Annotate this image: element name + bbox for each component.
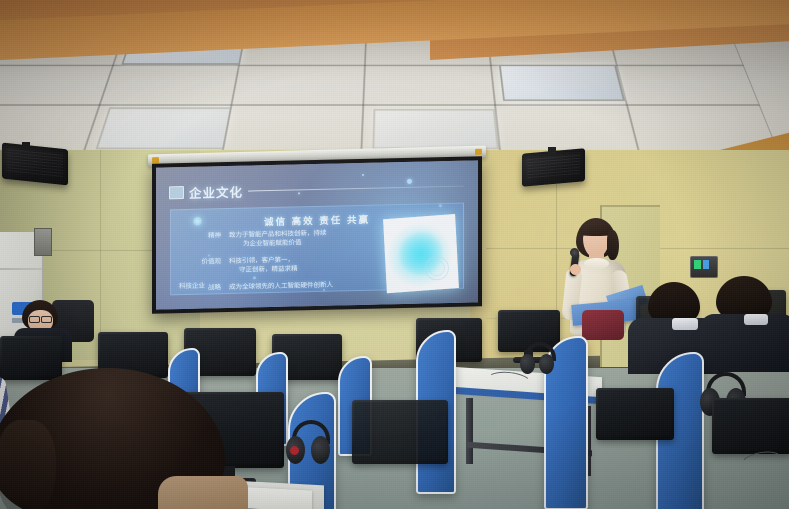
panel-led-green-icon	[694, 260, 701, 269]
wall-speaker-left	[2, 143, 68, 186]
speaker-bracket	[548, 147, 556, 154]
hair-strand	[0, 420, 56, 509]
person-shoulder	[158, 476, 248, 509]
wall-switch-box[interactable]	[34, 228, 52, 256]
foreground-person	[0, 368, 230, 509]
speaker-bracket	[22, 142, 30, 149]
red-bag	[582, 310, 624, 340]
projection-surface: 企业文化 诚信 高效 责任 共赢 精神 致力于智能产品和科技创新，持续 为企业智…	[156, 160, 478, 309]
projector-screen: 企业文化 诚信 高效 责任 共赢 精神 致力于智能产品和科技创新，持续 为企业智…	[152, 156, 482, 313]
student-collar	[672, 318, 698, 330]
panel-led-blue-icon	[703, 260, 709, 269]
wall-speaker-right	[522, 148, 585, 187]
presenter-hair-side	[607, 230, 619, 260]
microphone-head-icon	[570, 248, 579, 257]
classroom-photo: 企业文化 诚信 高效 责任 共赢 精神 致力于智能产品和科技创新，持续 为企业智…	[0, 0, 789, 509]
student-collar	[744, 314, 768, 325]
presenter-collar	[584, 258, 609, 269]
eyeglasses-icon	[29, 316, 40, 323]
cabinet-seam	[0, 268, 42, 270]
headset	[520, 342, 554, 378]
headset	[286, 420, 330, 472]
monitor	[596, 388, 674, 440]
screen-glare	[156, 160, 478, 309]
wall-seam	[100, 150, 101, 362]
monitor	[352, 400, 448, 464]
desk-leg	[466, 398, 473, 464]
eyeglasses-icon	[41, 316, 52, 323]
monitor	[712, 398, 789, 454]
presenter-hand	[570, 264, 581, 275]
